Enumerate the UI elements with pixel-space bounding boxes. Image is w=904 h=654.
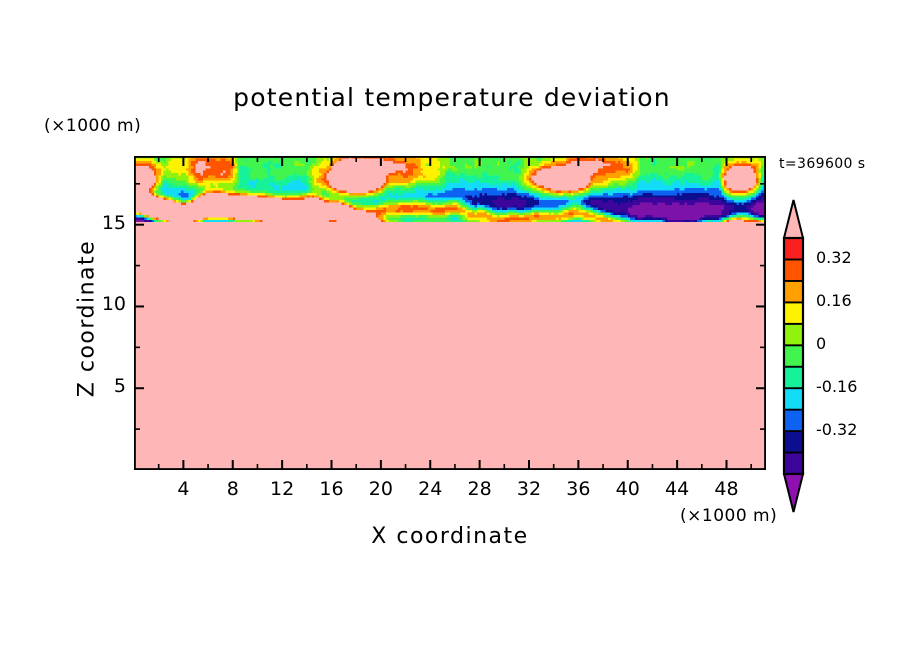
x-tick-label: 24	[407, 478, 453, 500]
y-axis-title: Z coordinate	[75, 174, 100, 464]
colorbar-tick-label: 0	[816, 334, 826, 353]
y-axis-unit-label: (×1000 m)	[44, 116, 141, 136]
figure-canvas: potential temperature deviation (×1000 m…	[0, 0, 904, 654]
x-axis-title: X coordinate	[134, 524, 766, 549]
colorbar-band	[784, 367, 803, 388]
x-tick-label: 36	[555, 478, 601, 500]
x-tick-label: 16	[309, 478, 355, 500]
colorbar-band	[784, 324, 803, 345]
colorbar	[780, 196, 810, 516]
colorbar-tick-label: -0.32	[816, 420, 857, 439]
x-tick-label: 8	[210, 478, 256, 500]
colorbar-band	[784, 238, 803, 259]
x-tick-label: 20	[358, 478, 404, 500]
colorbar-tick-label: 0.32	[816, 248, 852, 267]
contour-plot	[134, 156, 766, 470]
page-title: potential temperature deviation	[0, 83, 904, 112]
x-tick-label: 32	[506, 478, 552, 500]
colorbar-band	[784, 259, 803, 280]
x-tick-label: 28	[457, 478, 503, 500]
x-tick-label: 12	[259, 478, 305, 500]
colorbar-band	[784, 281, 803, 302]
colorbar-band	[784, 302, 803, 323]
colorbar-over-arrow	[784, 200, 803, 238]
time-annotation: t=369600 s	[779, 156, 865, 172]
colorbar-band	[784, 431, 803, 452]
x-tick-label: 40	[605, 478, 651, 500]
colorbar-band	[784, 410, 803, 431]
colorbar-under-arrow	[784, 474, 803, 512]
x-tick-label: 44	[654, 478, 700, 500]
contour-field	[134, 156, 766, 470]
colorbar-tick-label: 0.16	[816, 291, 852, 310]
colorbar-band	[784, 453, 803, 474]
colorbar-band	[784, 345, 803, 366]
x-tick-label: 48	[704, 478, 750, 500]
colorbar-tick-label: -0.16	[816, 377, 857, 396]
colorbar-unit-label: (×1000 m)	[680, 506, 777, 526]
x-tick-label: 4	[160, 478, 206, 500]
colorbar-band	[784, 388, 803, 409]
